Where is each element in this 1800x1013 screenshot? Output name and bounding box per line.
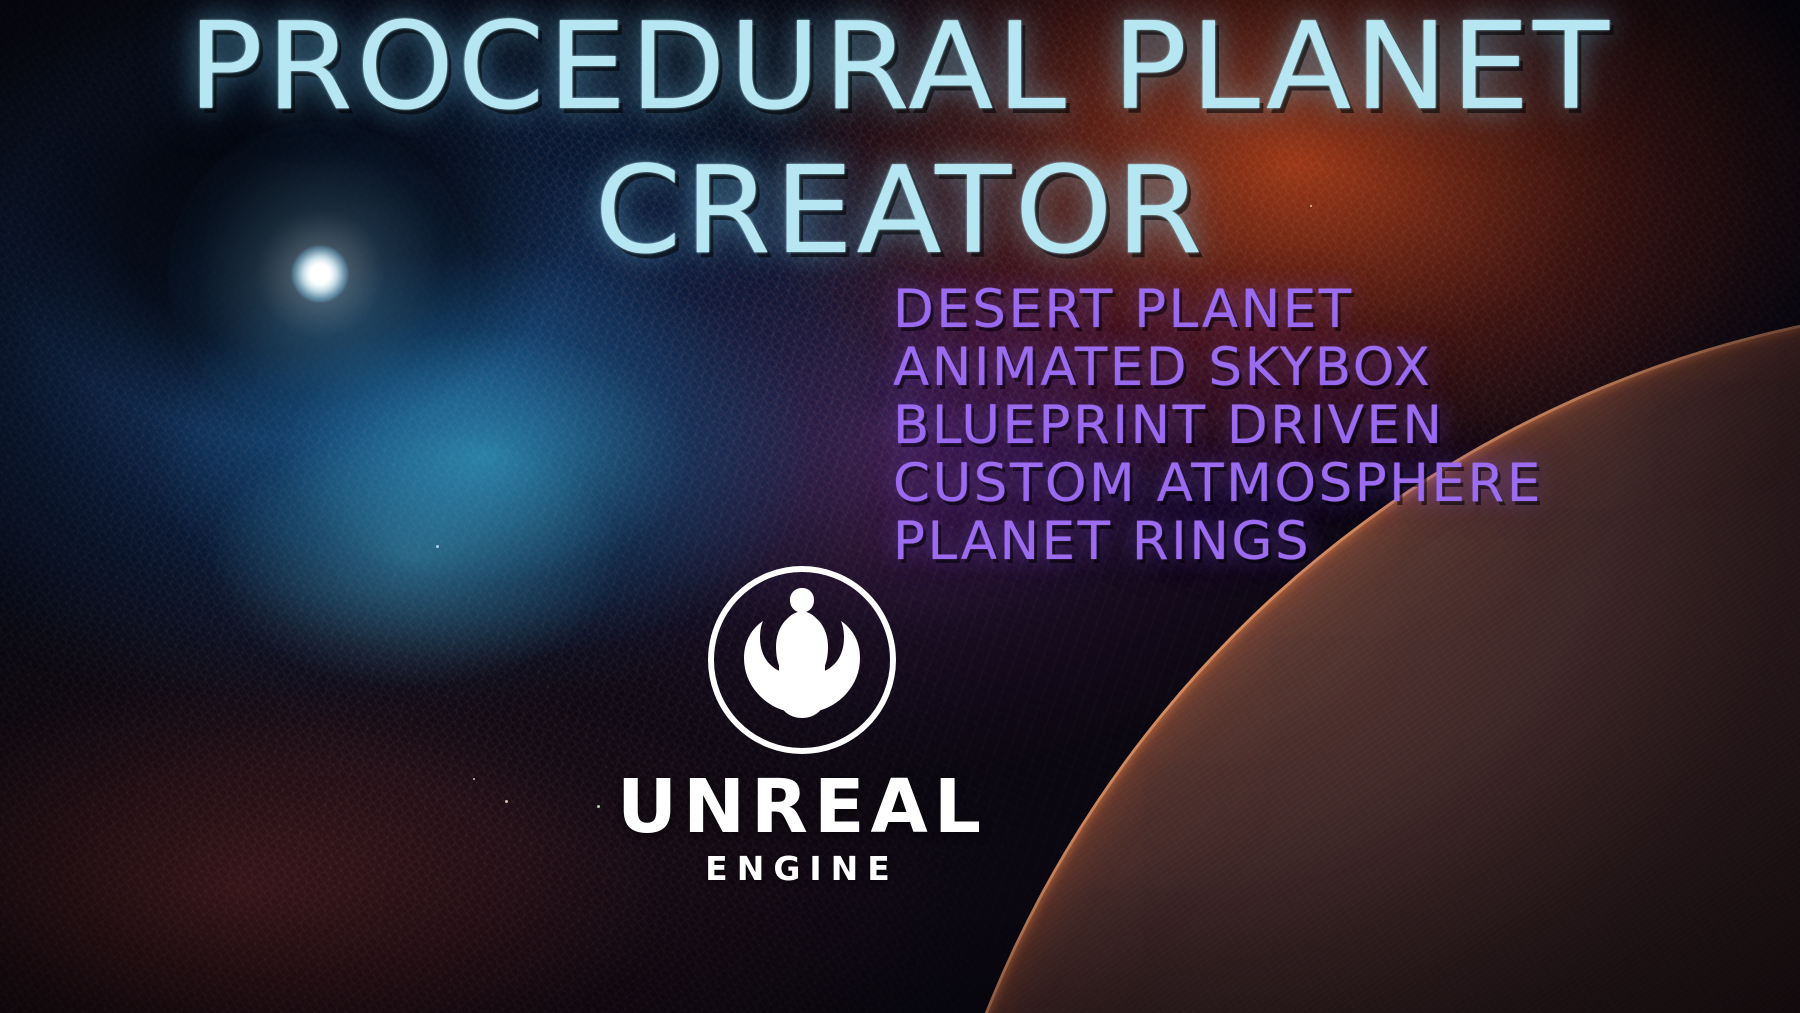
headline-line-1: PROCEDURAL PLANET xyxy=(0,10,1800,126)
unreal-wordmark: UNREAL xyxy=(617,770,987,844)
feature-item: ANIMATED SKYBOX xyxy=(893,339,1543,397)
headline: PROCEDURAL PLANET CREATOR xyxy=(0,10,1800,271)
feature-item: BLUEPRINT DRIVEN xyxy=(893,397,1543,455)
feature-item: DESERT PLANET xyxy=(893,281,1543,339)
feature-item: CUSTOM ATMOSPHERE xyxy=(893,455,1543,513)
unreal-engine-branding: UNREAL ENGINE xyxy=(617,560,987,885)
feature-list: DESERT PLANET ANIMATED SKYBOX BLUEPRINT … xyxy=(893,281,1543,571)
headline-line-2: CREATOR xyxy=(0,154,1800,270)
engine-wordmark: ENGINE xyxy=(617,852,987,885)
banner-canvas: PROCEDURAL PLANET CREATOR DESERT PLANET … xyxy=(0,0,1800,1013)
feature-item: PLANET RINGS xyxy=(893,513,1543,571)
unreal-engine-logo-icon xyxy=(702,560,902,760)
